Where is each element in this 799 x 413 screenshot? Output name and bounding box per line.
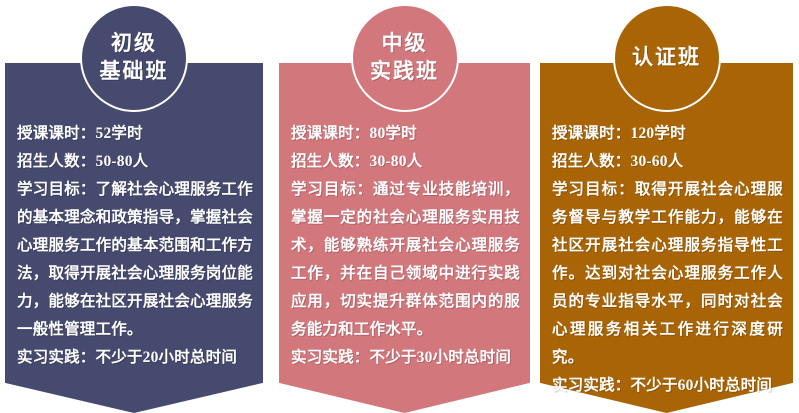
detail-teaching-hours: 授课课时：120学时	[552, 120, 783, 148]
card-details: 授课课时：120学时 招生人数：30-60人 学习目标：取得开展社会心理服务督导…	[540, 120, 793, 400]
course-tiers-infographic: 初级 基础班 授课课时：52学时 招生人数：50-80人 学习目标：了解社会心理…	[0, 0, 799, 413]
card-details: 授课课时：52学时 招生人数：50-80人 学习目标：了解社会心理服务工作的基本…	[5, 120, 263, 372]
detail-objective: 学习目标：通过专业技能培训，掌握一定的社会心理服务实用技术，能够熟练开展社会心理…	[291, 176, 520, 344]
detail-teaching-hours-label: 授课课时：	[17, 125, 96, 142]
card-details: 授课课时：80学时 招生人数：30-80人 学习目标：通过专业技能培训，掌握一定…	[279, 120, 530, 372]
card-title-line-1: 认证班	[632, 44, 701, 72]
detail-enrollment: 招生人数：30-80人	[291, 148, 520, 176]
detail-practice-label: 实习实践：	[552, 377, 631, 394]
detail-enrollment-value: 30-60人	[631, 153, 684, 170]
course-tier-card-beginner: 初级 基础班 授课课时：52学时 招生人数：50-80人 学习目标：了解社会心理…	[5, 0, 263, 413]
detail-practice: 实习实践：不少于20小时总时间	[17, 344, 253, 372]
detail-objective-label: 学习目标：	[552, 181, 635, 198]
detail-enrollment-label: 招生人数：	[552, 153, 631, 170]
detail-teaching-hours-value: 80学时	[370, 125, 417, 142]
card-title-line-1: 中级	[382, 30, 428, 58]
detail-practice-value: 不少于30小时总时间	[370, 349, 512, 366]
detail-practice-label: 实习实践：	[291, 349, 370, 366]
detail-practice-label: 实习实践：	[17, 349, 96, 366]
detail-teaching-hours-value: 52学时	[96, 125, 143, 142]
detail-enrollment: 招生人数：50-80人	[17, 148, 253, 176]
detail-practice: 实习实践：不少于60小时总时间	[552, 372, 783, 400]
detail-enrollment-value: 50-80人	[96, 153, 149, 170]
detail-teaching-hours: 授课课时：80学时	[291, 120, 520, 148]
detail-objective: 学习目标：取得开展社会心理服务督导与教学工作能力，能够在社区开展社会心理服务指导…	[552, 176, 783, 372]
detail-practice: 实习实践：不少于30小时总时间	[291, 344, 520, 372]
detail-practice-value: 不少于20小时总时间	[96, 349, 238, 366]
detail-enrollment-label: 招生人数：	[291, 153, 370, 170]
detail-teaching-hours-label: 授课课时：	[291, 125, 370, 142]
detail-objective-value: 了解社会心理服务工作的基本理念和政策指导，掌握社会心理服务工作的基本范围和工作方…	[17, 181, 253, 338]
card-title-line-1: 初级	[111, 30, 157, 58]
card-title-badge: 中级 实践班	[351, 4, 459, 112]
detail-practice-value: 不少于60小时总时间	[631, 377, 773, 394]
detail-objective-label: 学习目标：	[17, 181, 96, 198]
card-title-line-2: 实践班	[370, 58, 439, 86]
detail-objective-label: 学习目标：	[291, 181, 373, 198]
card-title-badge: 认证班	[613, 4, 721, 112]
detail-teaching-hours-label: 授课课时：	[552, 125, 631, 142]
course-tier-card-certification: 认证班 授课课时：120学时 招生人数：30-60人 学习目标：取得开展社会心理…	[540, 0, 793, 413]
course-tier-card-intermediate: 中级 实践班 授课课时：80学时 招生人数：30-80人 学习目标：通过专业技能…	[279, 0, 530, 413]
detail-objective-value: 取得开展社会心理服务督导与教学工作能力，能够在社区开展社会心理服务指导性工作。达…	[552, 181, 783, 366]
detail-enrollment-label: 招生人数：	[17, 153, 96, 170]
detail-enrollment: 招生人数：30-60人	[552, 148, 783, 176]
card-title-badge: 初级 基础班	[80, 4, 188, 112]
detail-objective-value: 通过专业技能培训，掌握一定的社会心理服务实用技术，能够熟练开展社会心理服务工作，…	[291, 181, 520, 338]
detail-teaching-hours: 授课课时：52学时	[17, 120, 253, 148]
detail-objective: 学习目标：了解社会心理服务工作的基本理念和政策指导，掌握社会心理服务工作的基本范…	[17, 176, 253, 344]
card-title-line-2: 基础班	[100, 58, 169, 86]
detail-teaching-hours-value: 120学时	[631, 125, 686, 142]
detail-enrollment-value: 30-80人	[370, 153, 423, 170]
